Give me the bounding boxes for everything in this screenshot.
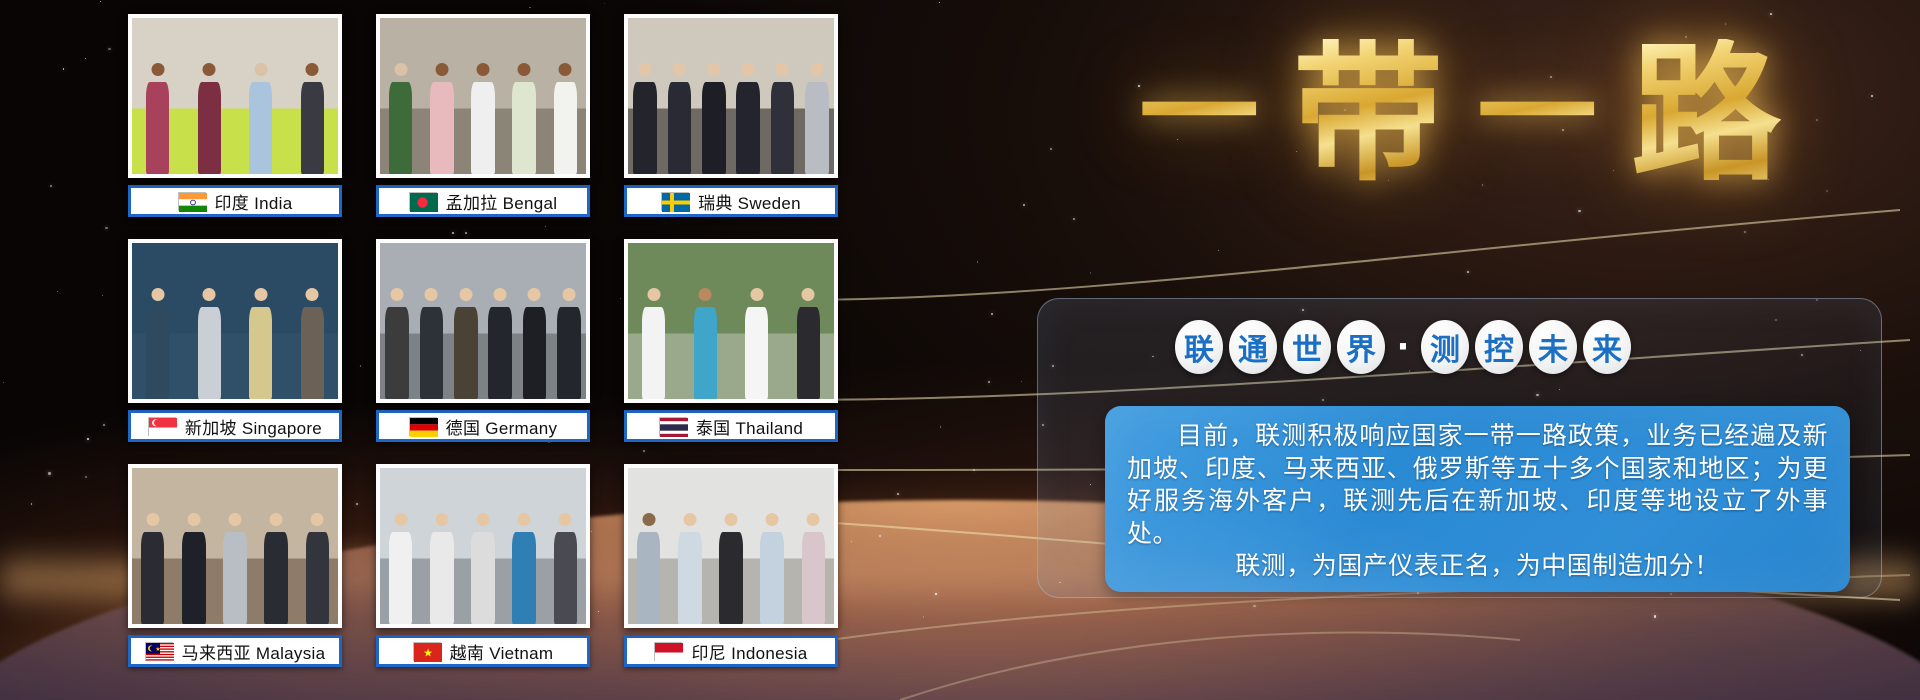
india-flag-icon [178, 192, 206, 211]
person-figure [245, 59, 276, 174]
country-label[interactable]: ★ 越南 Vietnam [376, 635, 590, 667]
country-photo[interactable] [376, 239, 590, 403]
person-figure [741, 284, 772, 399]
person-figure [194, 284, 225, 399]
person-figure [220, 509, 251, 624]
country-label-text: 印尼 Indonesia [691, 639, 807, 664]
bangladesh-flag-icon [409, 192, 437, 211]
person-figure [426, 509, 457, 624]
country-photo[interactable] [376, 14, 590, 178]
description-box: 目前，联测积极响应国家一带一路政策，业务已经遍及新加坡、印度、马来西亚、俄罗斯等… [1105, 406, 1850, 592]
person-figure [509, 509, 540, 624]
person-figure [698, 59, 729, 174]
country-label[interactable]: 德国 Germany [376, 410, 590, 442]
person-figure [550, 509, 581, 624]
photo-people [132, 284, 338, 399]
person-figure [142, 284, 173, 399]
germany-flag-icon [409, 417, 437, 436]
country-label-text: 德国 Germany [446, 414, 558, 439]
country-label[interactable]: 瑞典 Sweden [624, 185, 838, 217]
photo-people [380, 284, 586, 399]
person-figure [793, 284, 824, 399]
photo-card[interactable]: 新加坡 Singapore [128, 239, 342, 463]
country-label[interactable]: 印尼 Indonesia [624, 635, 838, 667]
person-figure [385, 509, 416, 624]
slogan-badge: 通 [1229, 320, 1277, 374]
svg-text:★: ★ [423, 647, 433, 659]
person-figure [690, 284, 721, 399]
malaysia-flag-icon: ★ [145, 642, 173, 661]
photo-people [380, 509, 586, 624]
banner-root: 印度 India [0, 0, 1920, 700]
country-label-text: 新加坡 Singapore [185, 414, 322, 439]
photo-card[interactable]: ★ 越南 Vietnam [376, 464, 590, 688]
country-photo[interactable] [128, 14, 342, 178]
person-figure [297, 284, 328, 399]
person-figure [664, 59, 695, 174]
photo-card[interactable]: 孟加拉 Bengal [376, 14, 590, 238]
country-photo[interactable] [624, 464, 838, 628]
photo-card[interactable]: ★ 马来西亚 Malaysia [128, 464, 342, 688]
slogan-badge: 测 [1421, 320, 1469, 374]
svg-text:★: ★ [155, 646, 160, 653]
country-photo[interactable] [624, 239, 838, 403]
calligraphy-char-1: 一 [1139, 54, 1259, 174]
vietnam-flag-icon: ★ [413, 642, 441, 661]
person-figure [674, 509, 705, 624]
person-figure [801, 59, 832, 174]
country-label-text: 孟加拉 Bengal [446, 189, 558, 214]
photo-card[interactable]: 德国 Germany [376, 239, 590, 463]
country-label[interactable]: 泰国 Thailand [624, 410, 838, 442]
person-figure [468, 509, 499, 624]
slogan-badge: 控 [1475, 320, 1523, 374]
country-label-text: 马来西亚 Malaysia [182, 639, 326, 664]
country-label-text: 越南 Vietnam [450, 639, 554, 664]
thailand-flag-icon [659, 417, 687, 436]
slogan-badge: 世 [1283, 320, 1331, 374]
photo-card[interactable]: 瑞典 Sweden [624, 14, 838, 238]
country-label[interactable]: ★ 马来西亚 Malaysia [128, 635, 342, 667]
person-figure [550, 59, 581, 174]
slogan-badge: 联 [1175, 320, 1223, 374]
person-figure [245, 284, 276, 399]
person-figure [633, 509, 664, 624]
person-figure [261, 509, 292, 624]
country-label-text: 印度 India [215, 189, 293, 214]
person-figure [416, 284, 447, 399]
person-figure [716, 509, 747, 624]
calligraphy-title: 一 带 一 路 [1020, 6, 1900, 221]
slogan-badge: 未 [1529, 320, 1577, 374]
person-figure [137, 509, 168, 624]
country-photo[interactable] [128, 464, 342, 628]
person-figure [509, 59, 540, 174]
slogan-separator-dot: · [1391, 320, 1415, 374]
description-paragraph-2: 联测，为国产仪表正名，为中国制造加分！ [1127, 550, 1828, 583]
singapore-flag-icon [148, 417, 176, 436]
indonesia-flag-icon [654, 642, 682, 661]
person-figure [767, 59, 798, 174]
person-figure [385, 59, 416, 174]
calligraphy-char-2: 带 [1293, 39, 1443, 189]
country-photo[interactable] [128, 239, 342, 403]
calligraphy-char-3: 一 [1477, 54, 1597, 174]
person-figure [194, 59, 225, 174]
country-label-text: 瑞典 Sweden [698, 189, 801, 214]
person-figure [382, 284, 413, 399]
slogan-badge: 来 [1583, 320, 1631, 374]
person-figure [798, 509, 829, 624]
country-photo[interactable] [376, 464, 590, 628]
slogan-badges: 联通世界·测控未来 [1175, 320, 1631, 374]
person-figure [302, 509, 333, 624]
person-figure [142, 59, 173, 174]
photo-card[interactable]: 印度 India [128, 14, 342, 238]
slogan-badge: 界 [1337, 320, 1385, 374]
person-figure [178, 509, 209, 624]
person-figure [519, 284, 550, 399]
person-figure [757, 509, 788, 624]
calligraphy-char-4: 路 [1631, 39, 1781, 189]
person-figure [468, 59, 499, 174]
country-label[interactable]: 孟加拉 Bengal [376, 185, 590, 217]
photo-people [628, 59, 834, 174]
person-figure [485, 284, 516, 399]
photo-people [132, 509, 338, 624]
person-figure [297, 59, 328, 174]
photo-people [380, 59, 586, 174]
photo-people [628, 284, 834, 399]
person-figure [426, 59, 457, 174]
person-figure [553, 284, 584, 399]
country-photo[interactable] [624, 14, 838, 178]
country-label[interactable]: 新加坡 Singapore [128, 410, 342, 442]
person-figure [630, 59, 661, 174]
person-figure [450, 284, 481, 399]
description-paragraph-1: 目前，联测积极响应国家一带一路政策，业务已经遍及新加坡、印度、马来西亚、俄罗斯等… [1127, 420, 1828, 550]
person-figure [733, 59, 764, 174]
person-figure [638, 284, 669, 399]
country-photo-grid: 印度 India [128, 14, 838, 688]
country-label[interactable]: 印度 India [128, 185, 342, 217]
photo-people [132, 59, 338, 174]
country-label-text: 泰国 Thailand [696, 414, 803, 439]
sweden-flag-icon [661, 192, 689, 211]
photo-card[interactable]: 泰国 Thailand [624, 239, 838, 463]
photo-people [628, 509, 834, 624]
photo-card[interactable]: 印尼 Indonesia [624, 464, 838, 688]
